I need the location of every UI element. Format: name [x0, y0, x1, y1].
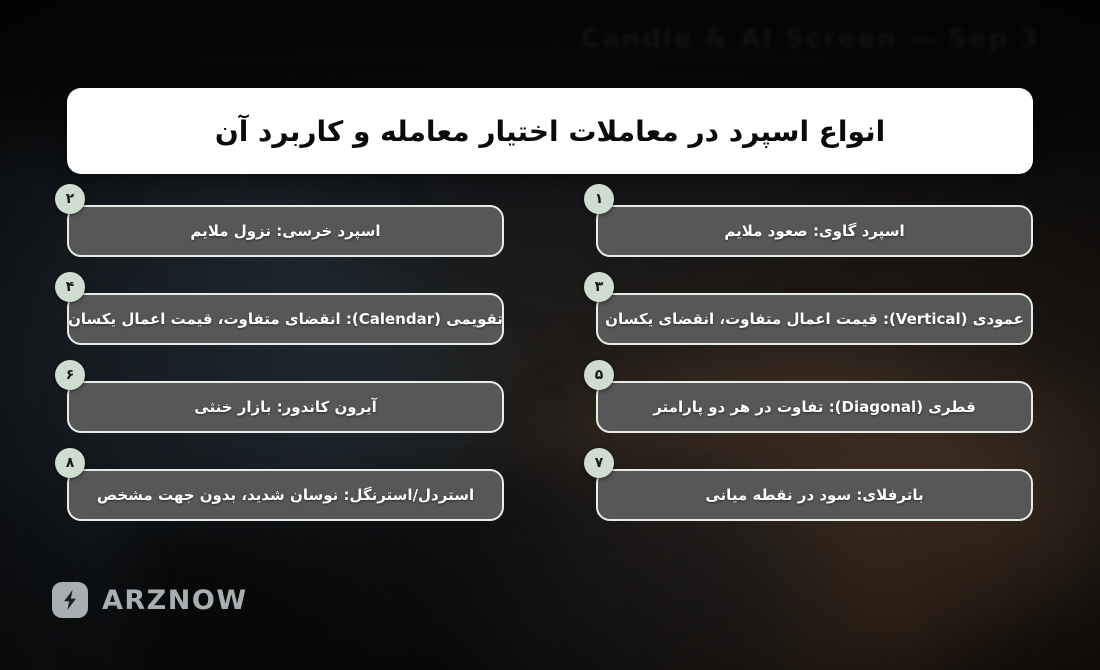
spread-card[interactable]: آیرون کاندور: بازار خنثی ۶	[67, 381, 504, 433]
step-number-badge: ۷	[584, 448, 614, 478]
page-title: انواع اسپرد در معاملات اختیار معامله و ک…	[215, 115, 885, 148]
list-item: قطری (Diagonal): تفاوت در هر دو پارامتر …	[596, 381, 1033, 433]
background-ghost-text: Candle & AI Screen — Sep 3	[581, 24, 1040, 54]
title-panel: انواع اسپرد در معاملات اختیار معامله و ک…	[67, 88, 1033, 174]
spread-card[interactable]: اسپرد خرسی: نزول ملایم ۲	[67, 205, 504, 257]
step-number-badge: ۲	[55, 184, 85, 214]
step-number-badge: ۶	[55, 360, 85, 390]
brand-name: ARZNOW	[102, 585, 248, 616]
spread-card[interactable]: اسپرد گاوی: صعود ملایم ۱	[596, 205, 1033, 257]
spread-card-label: عمودی (Vertical): قیمت اعمال متفاوت، انق…	[605, 310, 1024, 328]
spread-card-label: باترفلای: سود در نقطه میانی	[705, 486, 923, 504]
spread-card[interactable]: استردل/استرنگل: نوسان شدید، بدون جهت مشخ…	[67, 469, 504, 521]
step-number-badge: ۵	[584, 360, 614, 390]
step-number-badge: ۱	[584, 184, 614, 214]
spread-card-label: استردل/استرنگل: نوسان شدید، بدون جهت مشخ…	[97, 486, 474, 504]
list-item: تقویمی (Calendar): انقضای متفاوت، قیمت ا…	[67, 293, 504, 345]
list-item: اسپرد خرسی: نزول ملایم ۲	[67, 205, 504, 257]
spread-card[interactable]: عمودی (Vertical): قیمت اعمال متفاوت، انق…	[596, 293, 1033, 345]
list-item: آیرون کاندور: بازار خنثی ۶	[67, 381, 504, 433]
lightning-bolt-icon	[52, 582, 88, 618]
spread-card-label: اسپرد گاوی: صعود ملایم	[724, 222, 904, 240]
spread-card-label: تقویمی (Calendar): انقضای متفاوت، قیمت ا…	[68, 310, 503, 328]
step-number-badge: ۸	[55, 448, 85, 478]
step-number-badge: ۳	[584, 272, 614, 302]
step-number-badge: ۴	[55, 272, 85, 302]
list-item: عمودی (Vertical): قیمت اعمال متفاوت، انق…	[596, 293, 1033, 345]
spread-card[interactable]: باترفلای: سود در نقطه میانی ۷	[596, 469, 1033, 521]
list-item: باترفلای: سود در نقطه میانی ۷	[596, 469, 1033, 521]
spread-card-label: آیرون کاندور: بازار خنثی	[194, 398, 376, 416]
list-item: اسپرد گاوی: صعود ملایم ۱	[596, 205, 1033, 257]
brand-logo: ARZNOW	[52, 582, 248, 618]
spread-card[interactable]: تقویمی (Calendar): انقضای متفاوت، قیمت ا…	[67, 293, 504, 345]
spread-types-grid: اسپرد گاوی: صعود ملایم ۱ اسپرد خرسی: نزو…	[67, 205, 1033, 521]
spread-card[interactable]: قطری (Diagonal): تفاوت در هر دو پارامتر …	[596, 381, 1033, 433]
spread-card-label: اسپرد خرسی: نزول ملایم	[190, 222, 380, 240]
spread-card-label: قطری (Diagonal): تفاوت در هر دو پارامتر	[653, 398, 976, 416]
infographic-canvas: Candle & AI Screen — Sep 3 انواع اسپرد د…	[0, 0, 1100, 670]
list-item: استردل/استرنگل: نوسان شدید، بدون جهت مشخ…	[67, 469, 504, 521]
